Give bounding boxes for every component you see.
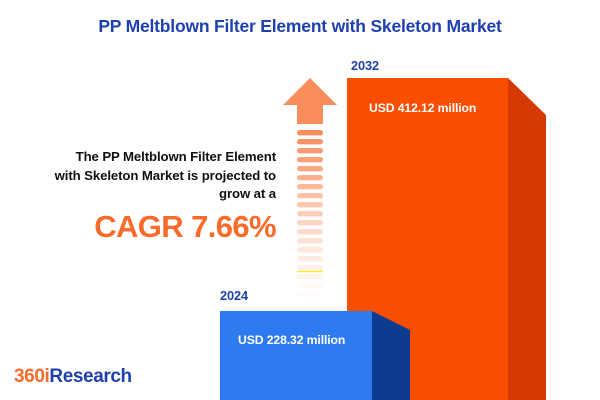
cagr-statement-text: The PP Meltblown Filter Element with Ske… [8, 148, 276, 204]
bar-2024-value-label: USD 228.32 million [238, 333, 345, 347]
bar-2024-side-face [372, 311, 410, 400]
cagr-statement-line-2: with Skeleton Market is projected to [8, 167, 276, 186]
page-title: PP Meltblown Filter Element with Skeleto… [0, 16, 600, 37]
cagr-statement-line-1: The PP Meltblown Filter Element [8, 148, 276, 167]
brand-logo-research: Research [49, 366, 131, 387]
cagr-statement-line-3: grow at a [8, 185, 276, 204]
cagr-statement-block: The PP Meltblown Filter Element with Ske… [8, 148, 276, 244]
bar-2024-front-face [220, 311, 372, 400]
bar-year-2032: 2032 [351, 58, 379, 73]
growth-arrow-icon [281, 76, 339, 298]
infographic-canvas: PP Meltblown Filter Element with Skeleto… [0, 0, 600, 400]
bar-year-2024: 2024 [220, 288, 248, 303]
bar-2024: USD 228.32 million [220, 311, 392, 400]
cagr-value-label: CAGR 7.66% [8, 210, 276, 244]
bar-2032-value-label: USD 412.12 million [369, 101, 476, 115]
bar-2032-side-face [508, 78, 546, 400]
brand-logo-360: 360 [14, 366, 45, 387]
brand-logo: 360iResearch [14, 366, 132, 388]
